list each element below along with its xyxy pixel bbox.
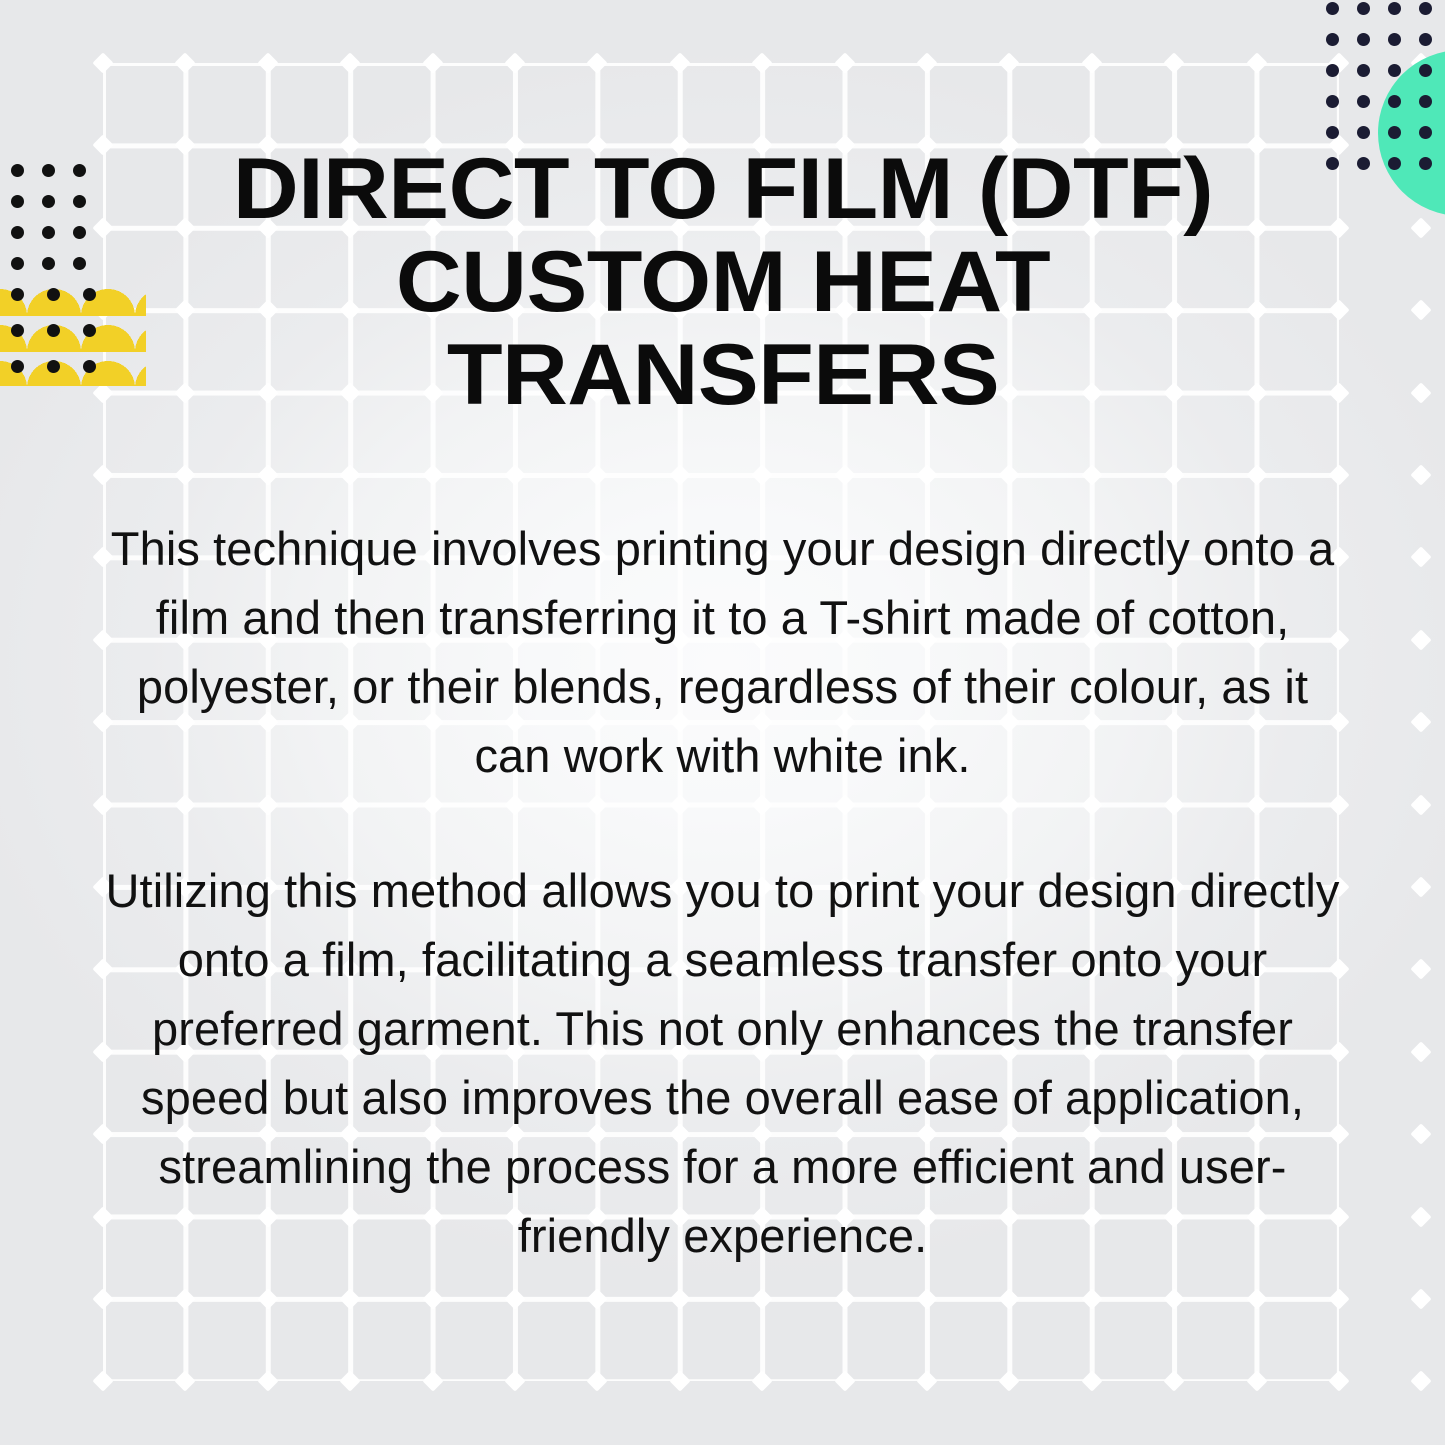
paragraph-two: Utilizing this method allows you to prin… — [99, 856, 1347, 1270]
page-title: DIRECT TO FILM (DTF) CUSTOM HEAT TRANSFE… — [140, 143, 1306, 422]
poster-content: DIRECT TO FILM (DTF) CUSTOM HEAT TRANSFE… — [0, 0, 1445, 1445]
paragraph-one: This technique involves printing your de… — [99, 514, 1347, 790]
poster-body: This technique involves printing your de… — [99, 514, 1347, 1270]
poster-canvas: DIRECT TO FILM (DTF) CUSTOM HEAT TRANSFE… — [0, 0, 1445, 1445]
